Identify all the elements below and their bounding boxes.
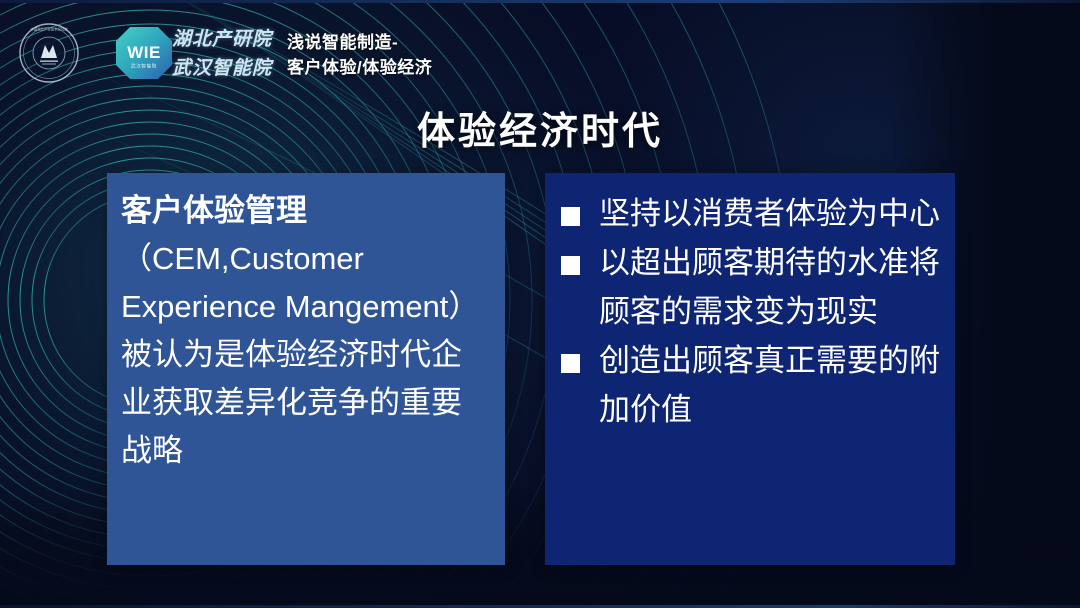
bullet-list: 坚持以消费者体验为中心 以超出顾客期待的水准将顾客的需求变为现实 创造出顾客真正…	[545, 173, 955, 434]
white-square-bullet-icon	[561, 354, 580, 373]
slide-header: 中国湖北产业技术研究院 WIE 武汉智能院 湖北产研院 武汉智能院 浅说智能制造…	[0, 0, 1080, 96]
left-panel-heading: 客户体验管理	[121, 193, 307, 228]
university-seal-icon: 中国湖北产业技术研究院	[18, 22, 80, 84]
bullet-text: 创造出顾客真正需要的附加价值	[599, 343, 940, 427]
svg-text:中国湖北产业技术研究院: 中国湖北产业技术研究院	[30, 27, 68, 32]
wie-hexagon-logo-icon: WIE 武汉智能院	[113, 24, 175, 82]
header-title-line-2: 客户体验/体验经济	[287, 55, 432, 80]
right-content-panel: 坚持以消费者体验为中心 以超出顾客期待的水准将顾客的需求变为现实 创造出顾客真正…	[545, 173, 955, 565]
calligraphy-line-1: 湖北产研院	[172, 25, 280, 54]
white-square-bullet-icon	[561, 207, 580, 226]
list-item: 以超出顾客期待的水准将顾客的需求变为现实	[553, 238, 945, 336]
list-item: 创造出顾客真正需要的附加价值	[553, 336, 945, 434]
header-title: 浅说智能制造- 客户体验/体验经济	[287, 30, 432, 80]
left-panel-text: 客户体验管理（CEM,Customer Experience Mangement…	[107, 173, 505, 475]
slide-canvas: 中国湖北产业技术研究院 WIE 武汉智能院 湖北产研院 武汉智能院 浅说智能制造…	[0, 0, 1080, 608]
bullet-text: 坚持以消费者体验为中心	[599, 196, 940, 231]
left-panel-body: （CEM,Customer Experience Mangement）被认为是体…	[121, 241, 479, 468]
page-title: 体验经济时代	[0, 100, 1080, 155]
header-title-line-1: 浅说智能制造-	[287, 30, 432, 55]
list-item: 坚持以消费者体验为中心	[553, 189, 945, 238]
calligraphy-line-2: 武汉智能院	[172, 54, 280, 83]
left-content-panel: 客户体验管理（CEM,Customer Experience Mangement…	[107, 173, 505, 565]
bullet-text: 以超出顾客期待的水准将顾客的需求变为现实	[599, 245, 940, 329]
svg-text:WIE: WIE	[127, 43, 161, 62]
calligraphy-org-name: 湖北产研院 武汉智能院	[172, 25, 280, 83]
svg-text:武汉智能院: 武汉智能院	[131, 63, 157, 70]
white-square-bullet-icon	[561, 256, 580, 275]
